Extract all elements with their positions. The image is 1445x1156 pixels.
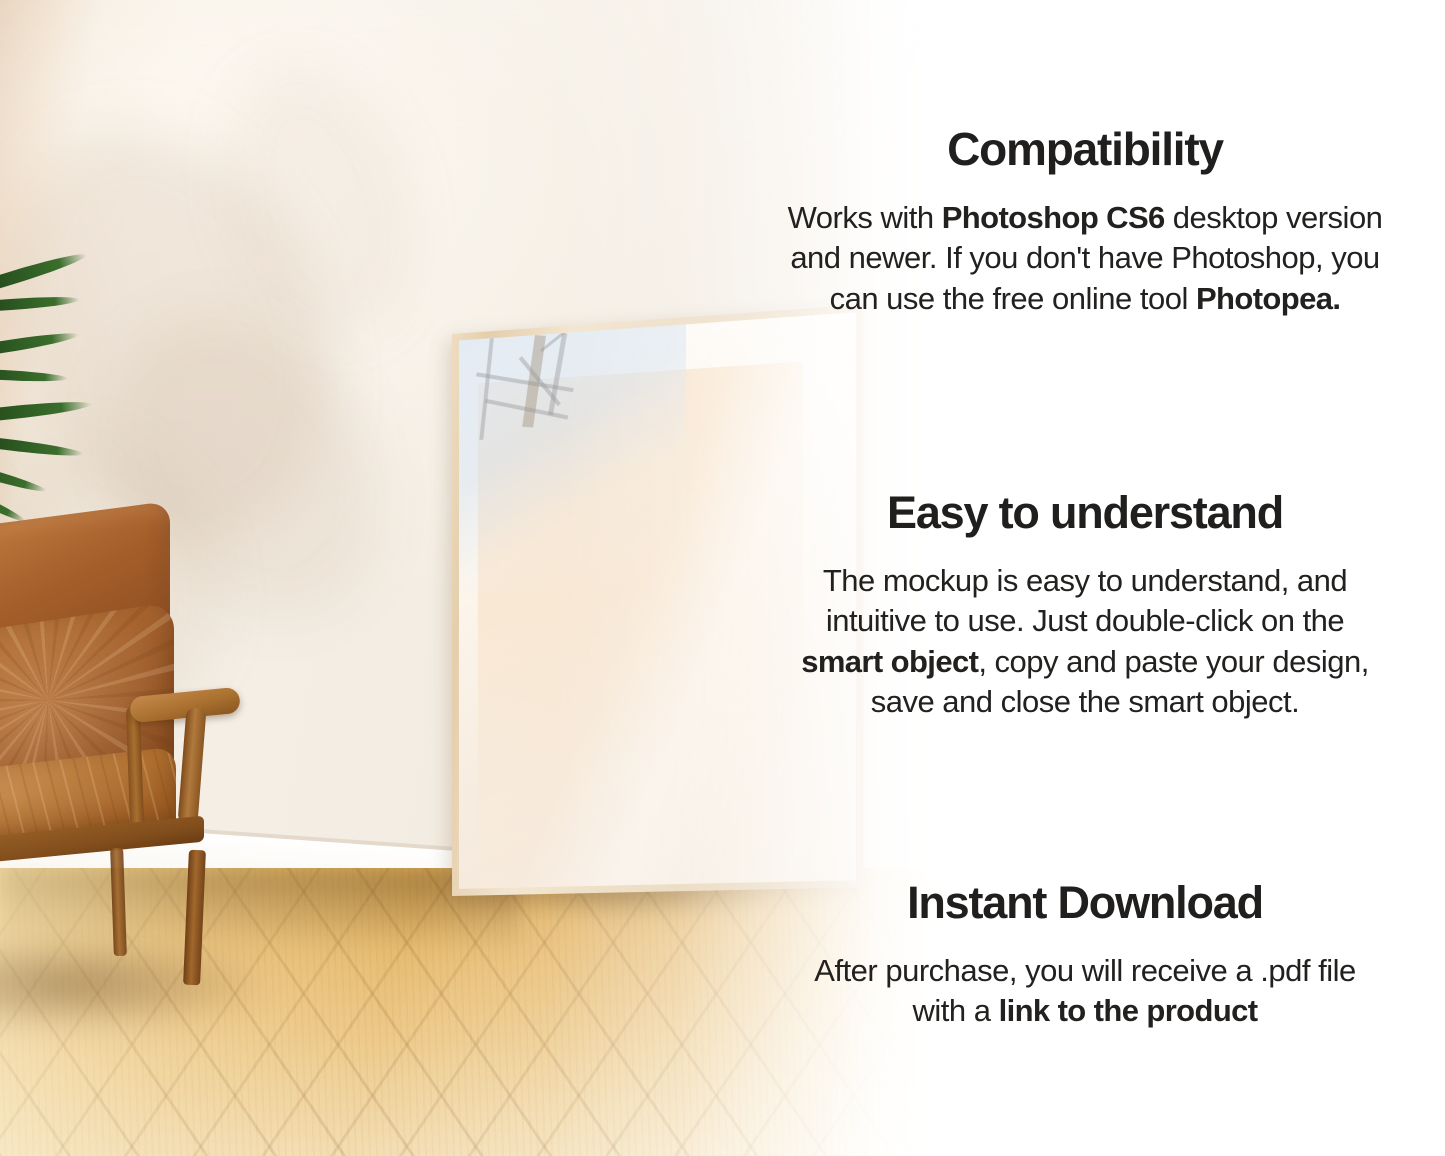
palm-frond xyxy=(0,368,68,383)
section-easy-to-understand: Easy to understand The mockup is easy to… xyxy=(785,490,1385,722)
palm-frond xyxy=(0,294,80,313)
palm-frond xyxy=(0,329,79,360)
section-instant-download: Instant Download After purchase, you wil… xyxy=(785,880,1385,1032)
chair-leg xyxy=(110,848,127,956)
palm-frond xyxy=(0,398,92,425)
feature-text-panel: Compatibility Works with Photoshop CS6 d… xyxy=(765,0,1445,1156)
easy-to-understand-body: The mockup is easy to understand, and in… xyxy=(785,561,1385,722)
compatibility-title: Compatibility xyxy=(785,126,1385,172)
chair-leg xyxy=(183,850,206,986)
palm-frond xyxy=(0,434,84,459)
compatibility-body: Works with Photoshop CS6 desktop version… xyxy=(785,198,1385,319)
leather-armchair xyxy=(0,520,360,990)
promo-graphic: Compatibility Works with Photoshop CS6 d… xyxy=(0,0,1445,1156)
easy-to-understand-title: Easy to understand xyxy=(785,490,1385,535)
palm-frond xyxy=(0,458,48,495)
instant-download-body: After purchase, you will receive a .pdf … xyxy=(785,951,1385,1032)
section-compatibility: Compatibility Works with Photoshop CS6 d… xyxy=(785,126,1385,319)
instant-download-title: Instant Download xyxy=(785,880,1385,925)
chair-arm-post xyxy=(177,707,206,824)
